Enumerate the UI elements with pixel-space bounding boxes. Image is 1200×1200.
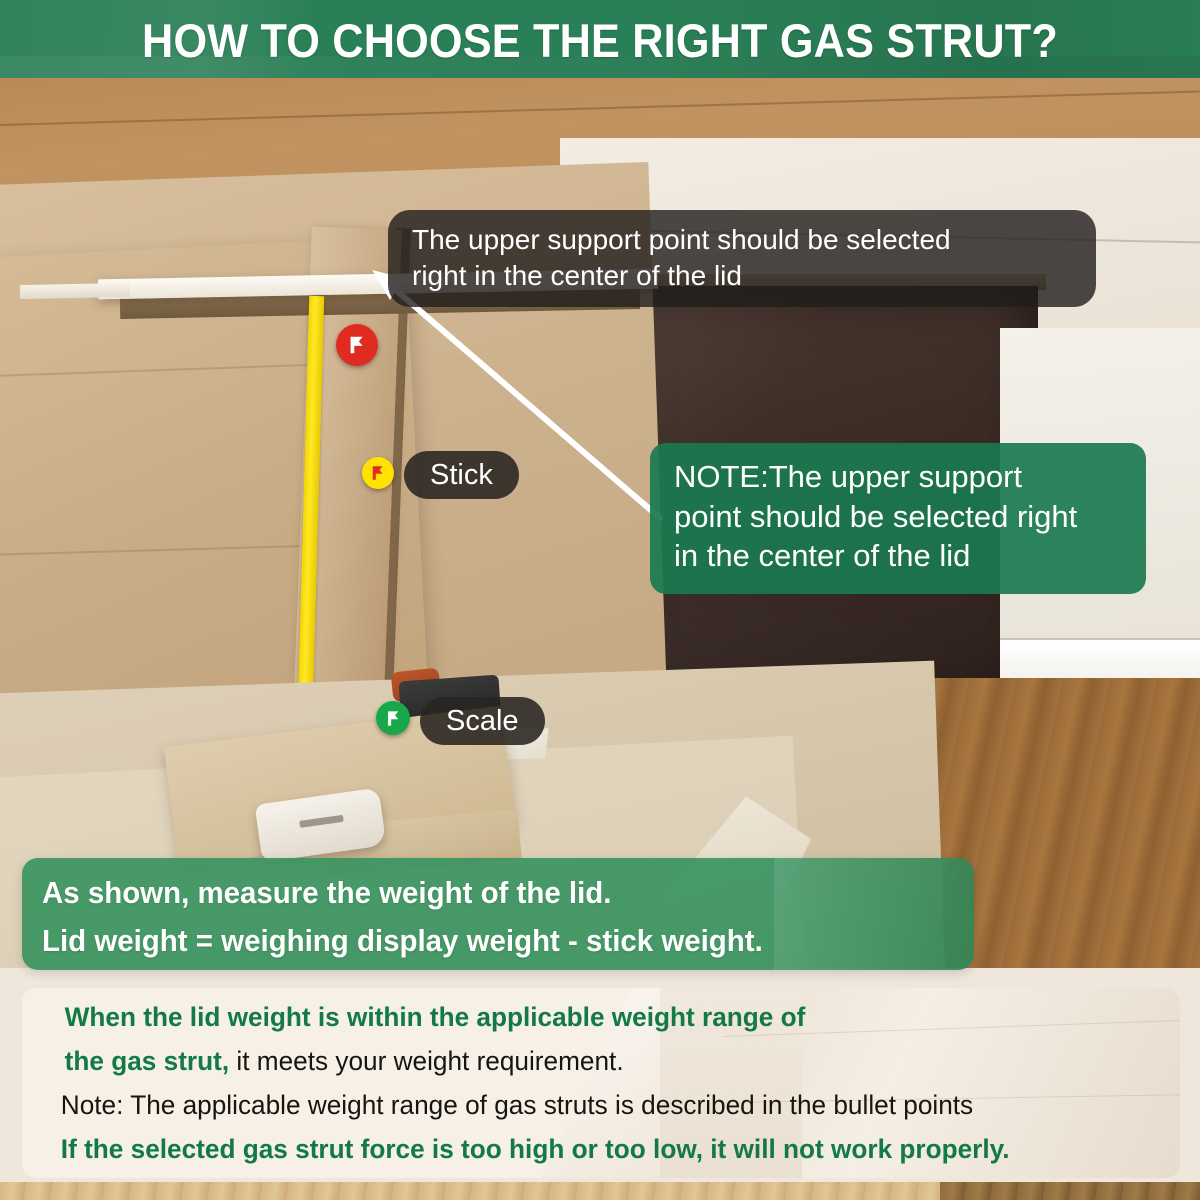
note-box[interactable]: NOTE:The upper support point should be s… bbox=[650, 443, 1146, 594]
bottom-wood-strip-dark bbox=[940, 1182, 1200, 1200]
grain-line bbox=[0, 363, 331, 378]
card-row-1-text: When the lid weight is within the applic… bbox=[65, 1002, 806, 1032]
banner-gradient bbox=[774, 858, 974, 970]
card-row-4: If the selected gas strut force is too h… bbox=[22, 1136, 1145, 1163]
trim-piece bbox=[20, 283, 130, 299]
page-title: HOW TO CHOOSE THE RIGHT GAS STRUT? bbox=[48, 0, 1152, 80]
banner-line-1: As shown, measure the weight of the lid. bbox=[42, 875, 763, 911]
card-row-3-text: Note: The applicable weight range of gas… bbox=[61, 1090, 973, 1120]
callout-stick[interactable]: Stick bbox=[404, 451, 519, 499]
callout-scale[interactable]: Scale bbox=[420, 697, 545, 745]
card-row-2-green: the gas strut, bbox=[65, 1046, 229, 1076]
infographic-page: HOW TO CHOOSE THE RIGHT GAS STRUT? bbox=[0, 0, 1200, 1200]
callout-upper-support[interactable]: The upper support point should be select… bbox=[388, 210, 1096, 307]
card-text-group: When the lid weight is within the applic… bbox=[22, 1004, 1180, 1178]
callout-stick-label: Stick bbox=[430, 459, 493, 491]
header-banner: HOW TO CHOOSE THE RIGHT GAS STRUT? bbox=[0, 0, 1200, 80]
card-row-2: the gas strut, it meets your weight requ… bbox=[22, 1048, 1145, 1075]
bottom-info-card: When the lid weight is within the applic… bbox=[22, 988, 1180, 1178]
flag-marker-red-icon[interactable] bbox=[336, 324, 378, 366]
card-row-1: When the lid weight is within the applic… bbox=[22, 1004, 1145, 1031]
card-row-3: Note: The applicable weight range of gas… bbox=[22, 1092, 1145, 1119]
scale-display bbox=[299, 815, 344, 828]
flag-marker-yellow-icon[interactable] bbox=[362, 457, 394, 489]
note-line-3: in the center of the lid bbox=[674, 536, 1124, 576]
note-line-2: point should be selected right bbox=[674, 497, 1124, 537]
banner-line-2: Lid weight = weighing display weight - s… bbox=[42, 923, 763, 959]
callout-line-1: The upper support point should be select… bbox=[412, 222, 1072, 258]
callout-scale-label: Scale bbox=[446, 705, 519, 737]
measure-banner: As shown, measure the weight of the lid.… bbox=[22, 858, 974, 970]
banner-text-group: As shown, measure the weight of the lid.… bbox=[42, 875, 801, 959]
card-row-4-text: If the selected gas strut force is too h… bbox=[61, 1134, 1010, 1164]
note-line-1: NOTE:The upper support bbox=[674, 457, 1124, 497]
card-row-2-black: it meets your weight requirement. bbox=[229, 1046, 623, 1076]
photo-stage: The upper support point should be select… bbox=[0, 78, 1200, 968]
flag-marker-green-icon[interactable] bbox=[376, 701, 410, 735]
callout-line-2: right in the center of the lid bbox=[412, 258, 1072, 294]
